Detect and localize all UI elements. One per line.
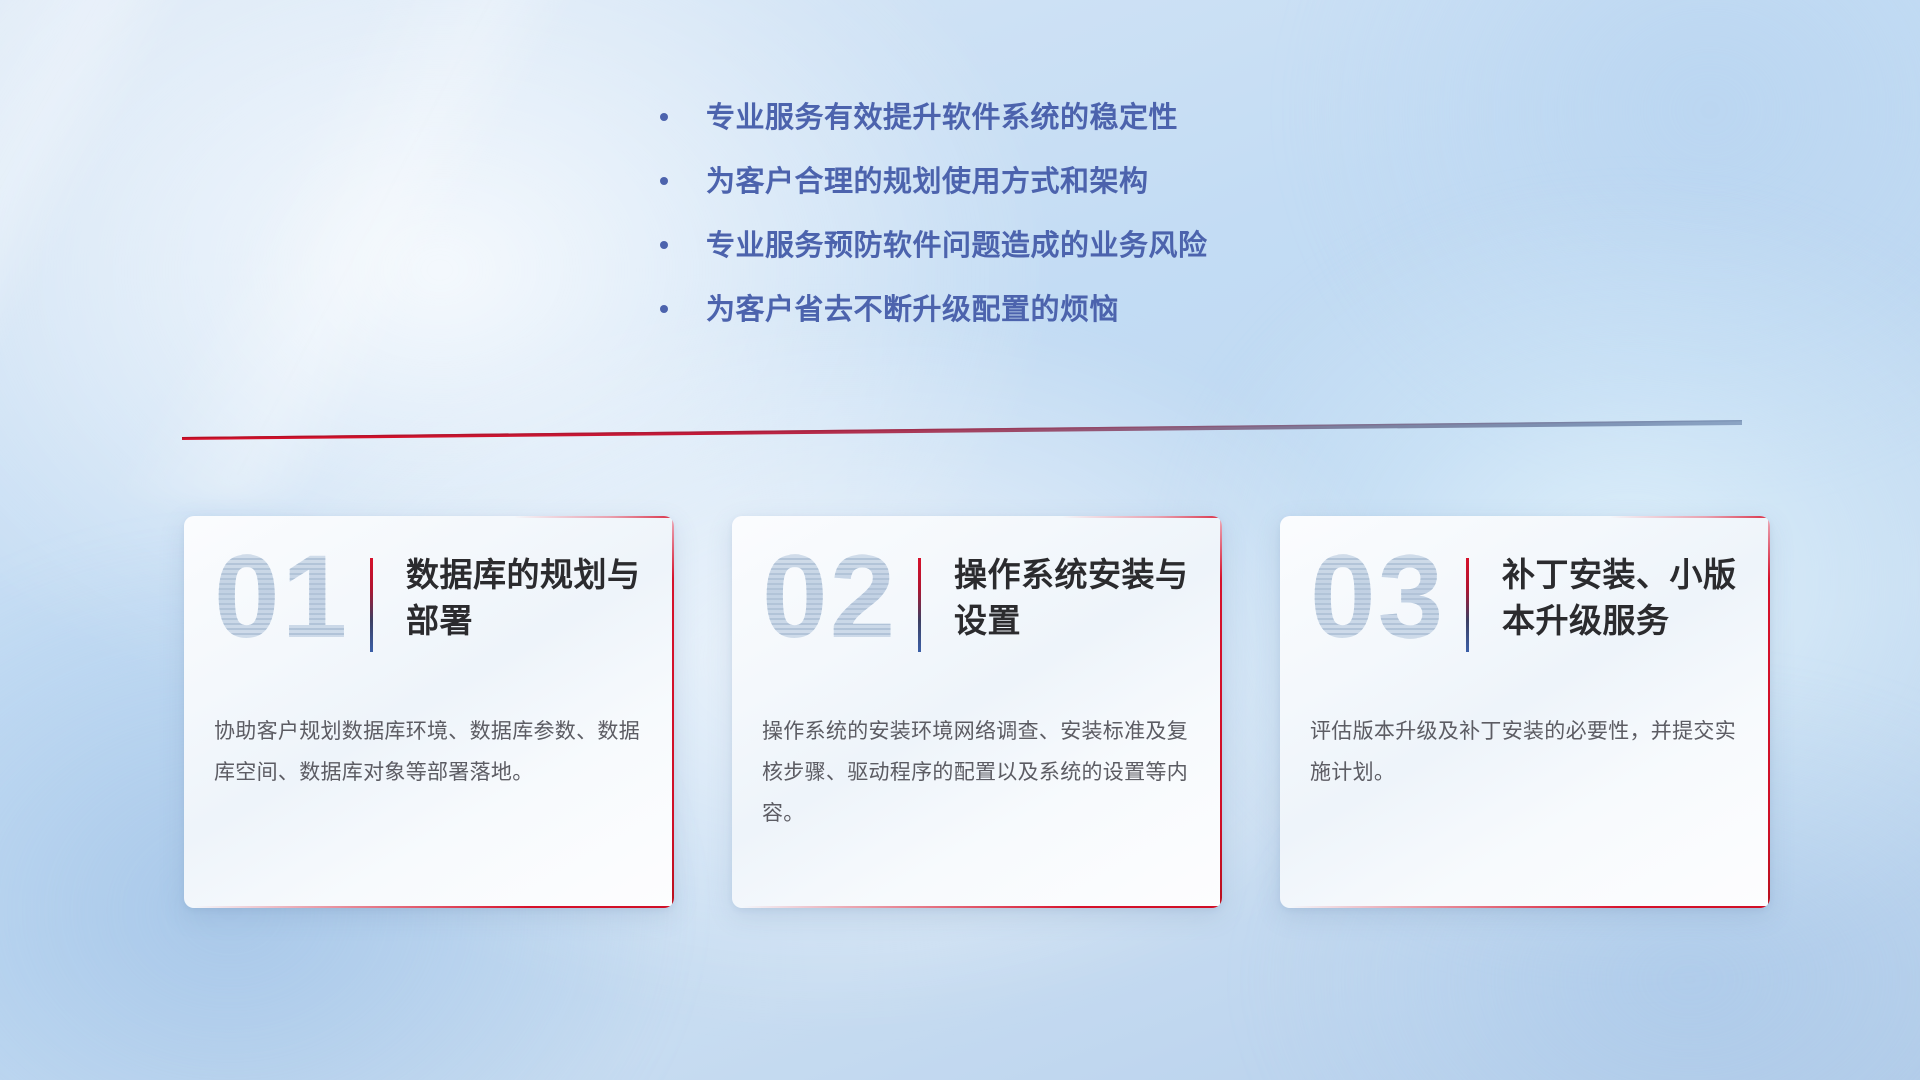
list-item: 为客户省去不断升级配置的烦恼 (660, 296, 1560, 360)
service-card[interactable]: 03 补丁安装、小版本升级服务 评估版本升级及补丁安装的必要性，并提交实施计划。 (1280, 516, 1770, 908)
section-divider (182, 418, 1742, 444)
service-card[interactable]: 01 数据库的规划与部署 协助客户规划数据库环境、数据库参数、数据库空间、数据库… (184, 516, 674, 908)
card-body-text: 操作系统的安装环境网络调查、安装标准及复核步骤、驱动程序的配置以及系统的设置等内… (762, 712, 1194, 835)
card-header: 02 操作系统安装与设置 (732, 516, 1222, 694)
list-item: 专业服务预防软件问题造成的业务风险 (660, 232, 1560, 296)
bullet-dot-icon (660, 113, 668, 121)
card-title-divider (1466, 558, 1469, 652)
benefits-bullet-list: 专业服务有效提升软件系统的稳定性 为客户合理的规划使用方式和架构 专业服务预防软… (660, 104, 1560, 360)
card-number: 01 (214, 538, 349, 656)
card-number: 02 (762, 538, 897, 656)
card-number: 03 (1310, 538, 1445, 656)
card-body-text: 协助客户规划数据库环境、数据库参数、数据库空间、数据库对象等部署落地。 (214, 712, 646, 794)
card-title-divider (370, 558, 373, 652)
bullet-dot-icon (660, 241, 668, 249)
card-title: 数据库的规划与部署 (406, 552, 656, 643)
service-card-list: 01 数据库的规划与部署 协助客户规划数据库环境、数据库参数、数据库空间、数据库… (184, 516, 1770, 908)
bullet-dot-icon (660, 177, 668, 185)
card-title: 补丁安装、小版本升级服务 (1502, 552, 1752, 643)
bullet-text: 专业服务有效提升软件系统的稳定性 (706, 104, 1178, 133)
card-body-text: 评估版本升级及补丁安装的必要性，并提交实施计划。 (1310, 712, 1742, 794)
list-item: 专业服务有效提升软件系统的稳定性 (660, 104, 1560, 168)
bullet-text: 为客户省去不断升级配置的烦恼 (706, 296, 1119, 325)
bullet-text: 专业服务预防软件问题造成的业务风险 (706, 232, 1208, 261)
card-accent-bottom (194, 906, 674, 908)
card-title: 操作系统安装与设置 (954, 552, 1204, 643)
service-card[interactable]: 02 操作系统安装与设置 操作系统的安装环境网络调查、安装标准及复核步骤、驱动程… (732, 516, 1222, 908)
card-header: 03 补丁安装、小版本升级服务 (1280, 516, 1770, 694)
bullet-dot-icon (660, 305, 668, 313)
card-accent-bottom (1290, 906, 1770, 908)
card-accent-bottom (742, 906, 1222, 908)
card-header: 01 数据库的规划与部署 (184, 516, 674, 694)
bullet-text: 为客户合理的规划使用方式和架构 (706, 168, 1149, 197)
card-title-divider (918, 558, 921, 652)
list-item: 为客户合理的规划使用方式和架构 (660, 168, 1560, 232)
